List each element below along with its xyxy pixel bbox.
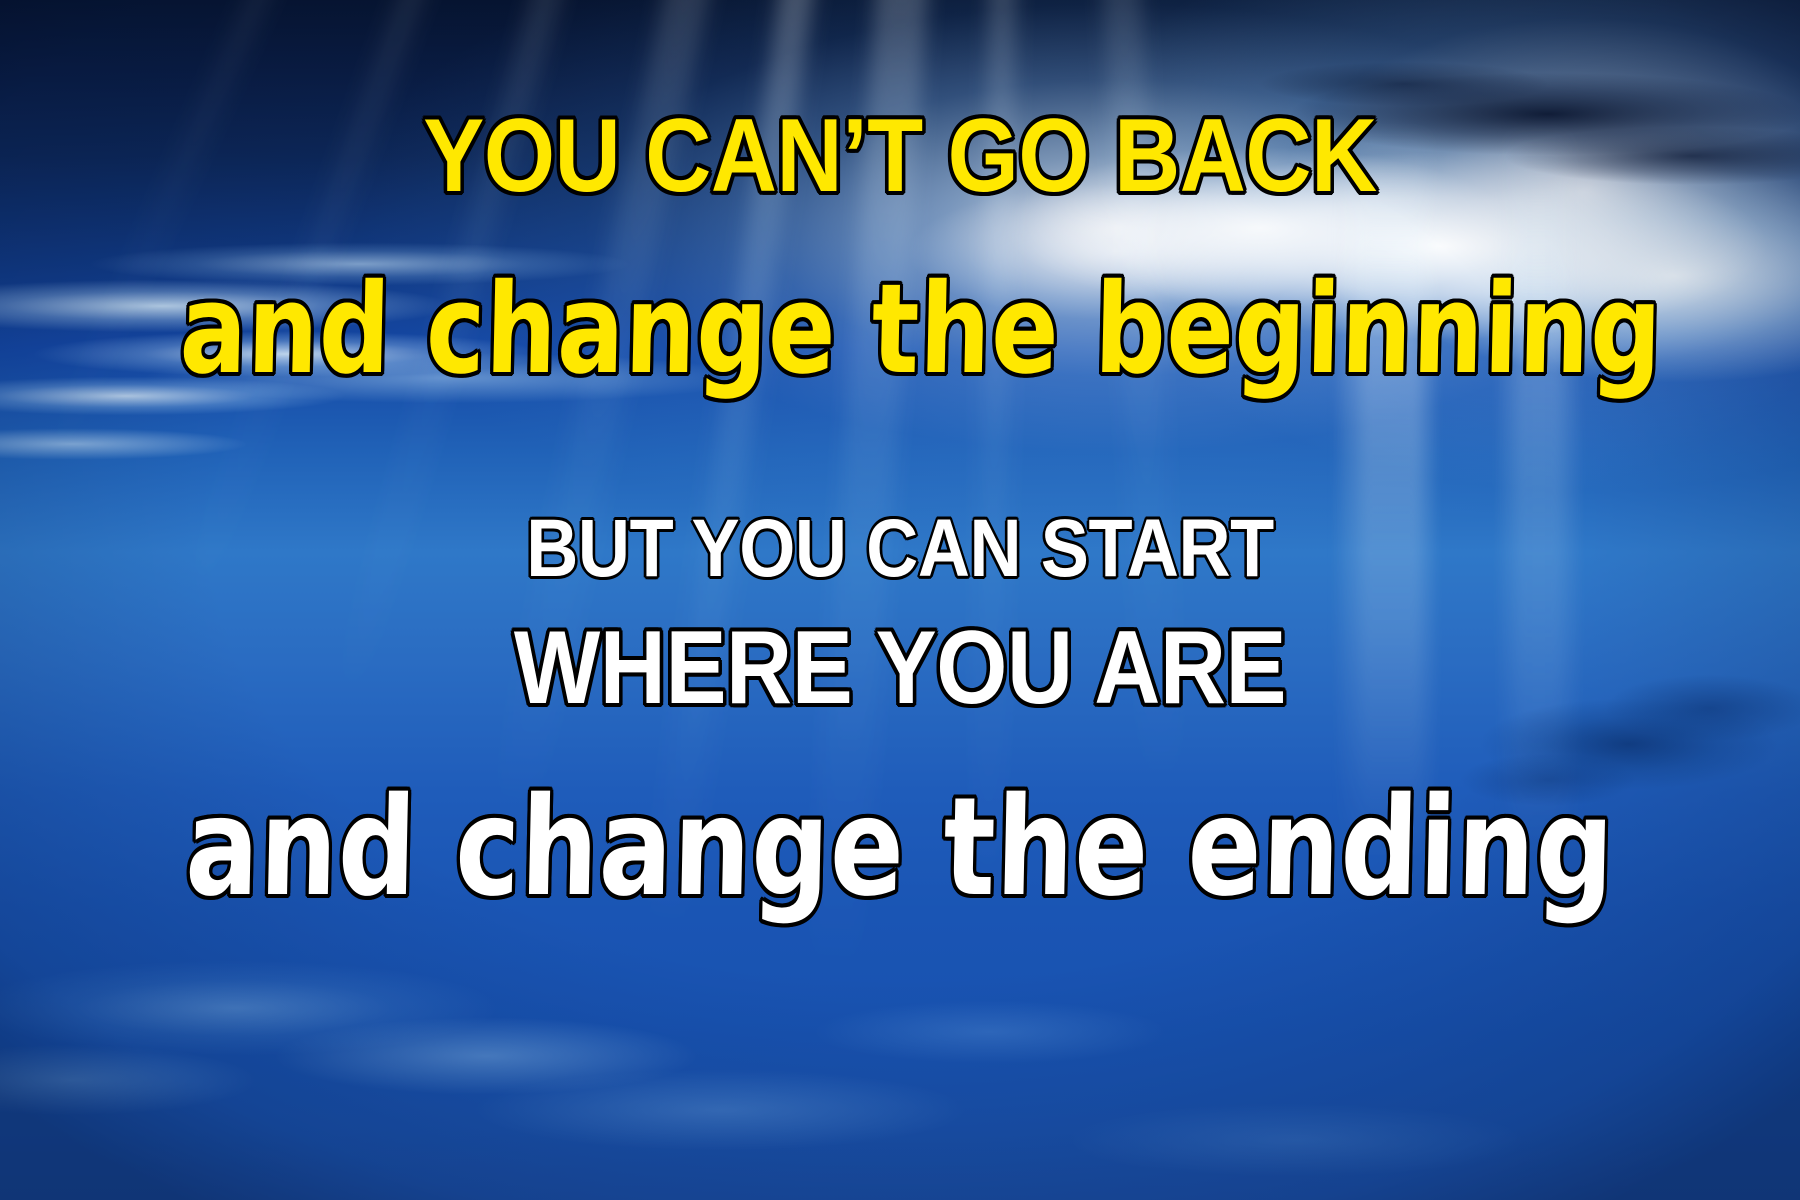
quote-line-4: WHERE YOU ARE xyxy=(108,616,1692,720)
quote-text-block: YOU CAN’T GO BACK and change the beginni… xyxy=(0,0,1800,1200)
quote-line-1: YOU CAN’T GO BACK xyxy=(108,104,1692,208)
quote-line-2: and change the beginning xyxy=(179,268,1622,392)
quote-line-3: BUT YOU CAN START xyxy=(108,508,1692,590)
quote-line-5: and change the ending xyxy=(179,780,1622,916)
quote-poster: YOU CAN’T GO BACK and change the beginni… xyxy=(0,0,1800,1200)
